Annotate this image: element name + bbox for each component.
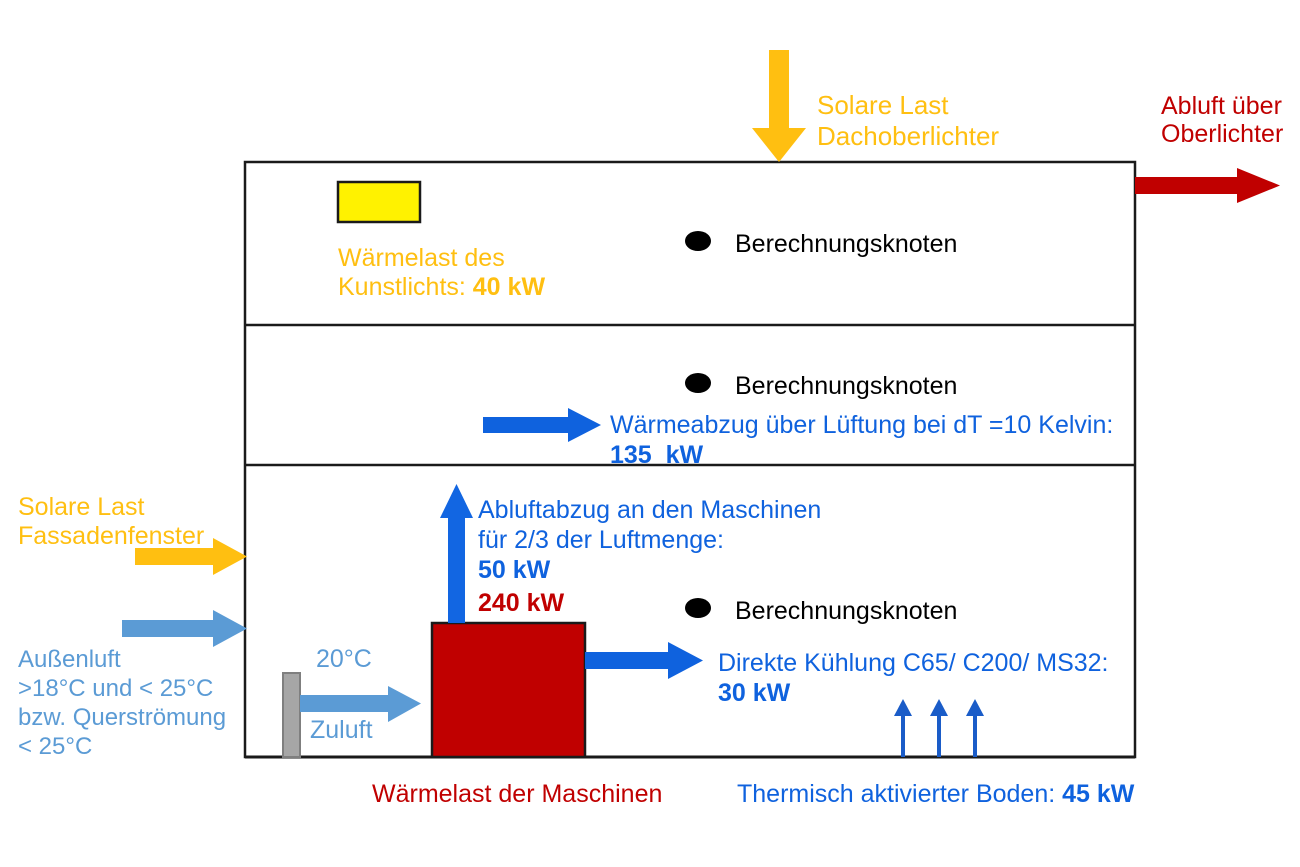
supply-air-duct <box>283 673 300 757</box>
artificial-light-label-line2: Kunstlichts: 40 kW <box>338 272 545 303</box>
calculation-node-top <box>685 231 711 251</box>
right-arrow-blue-direct-cooling <box>585 642 703 679</box>
exhaust-roof-label-line2: Oberlichter <box>1161 119 1283 150</box>
right-arrow-red <box>1135 168 1280 203</box>
outside-air-label-line2: >18°C und < 25°C <box>18 674 213 703</box>
calculation-node-bottom <box>685 598 711 618</box>
machine-exhaust-label-line1: Abluftabzug an den Maschinen <box>478 495 821 526</box>
activated-floor-value: 45 kW <box>1062 780 1134 808</box>
outside-air-label-line4: < 25°C <box>18 732 92 761</box>
machine-heat-block <box>432 623 585 757</box>
artificial-light-label-line1: Wärmelast des <box>338 243 505 274</box>
diagram-canvas: Solare Last Dachoberlichter Abluft über … <box>0 0 1300 867</box>
direct-cooling-label-line1: Direkte Kühlung C65/ C200/ MS32: <box>718 648 1109 679</box>
down-arrow-amber <box>752 50 806 162</box>
activated-floor-prefix: Thermisch aktivierter Boden: <box>737 780 1062 808</box>
activated-floor-caption: Thermisch aktivierter Boden: 45 kW <box>737 779 1134 810</box>
calculation-node-middle-label: Berechnungsknoten <box>735 371 957 402</box>
outside-air-label-line3: bzw. Querströmung <box>18 703 226 732</box>
solar-roof-label-line2: Dachoberlichter <box>817 121 999 153</box>
calculation-node-middle <box>685 373 711 393</box>
artificial-light-block <box>338 182 420 222</box>
ventilation-heat-value: 135 kW <box>610 440 703 471</box>
machine-exhaust-label-line2: für 2/3 der Luftmenge: <box>478 525 724 556</box>
calculation-node-top-label: Berechnungsknoten <box>735 229 957 260</box>
machine-caption: Wärmelast der Maschinen <box>372 779 662 810</box>
supply-air-temperature-label: 20°C <box>316 644 372 675</box>
solar-facade-label-line1: Solare Last <box>18 492 144 523</box>
solar-roof-label-line1: Solare Last <box>817 90 949 122</box>
three-up-arrows-blue-floor <box>894 699 984 757</box>
ventilation-heat-label-line1: Wärmeabzug über Lüftung bei dT =10 Kelvi… <box>610 410 1113 441</box>
machine-load-value: 240 kW <box>478 588 564 619</box>
exhaust-roof-label-line1: Abluft über <box>1161 91 1282 122</box>
right-arrow-blue-ventilation <box>483 408 601 442</box>
solar-facade-label-line2: Fassadenfenster <box>18 521 204 552</box>
artificial-light-label-prefix: Kunstlichts: <box>338 273 473 301</box>
right-arrow-lightblue-outside-air <box>122 610 247 647</box>
outside-air-label-line1: Außenluft <box>18 645 121 674</box>
machine-exhaust-value: 50 kW <box>478 555 550 586</box>
up-arrow-blue-machine-exhaust <box>440 484 473 623</box>
direct-cooling-value: 30 kW <box>718 678 790 709</box>
calculation-node-bottom-label: Berechnungsknoten <box>735 596 957 627</box>
supply-air-label: Zuluft <box>310 715 373 746</box>
artificial-light-value: 40 kW <box>473 273 545 301</box>
